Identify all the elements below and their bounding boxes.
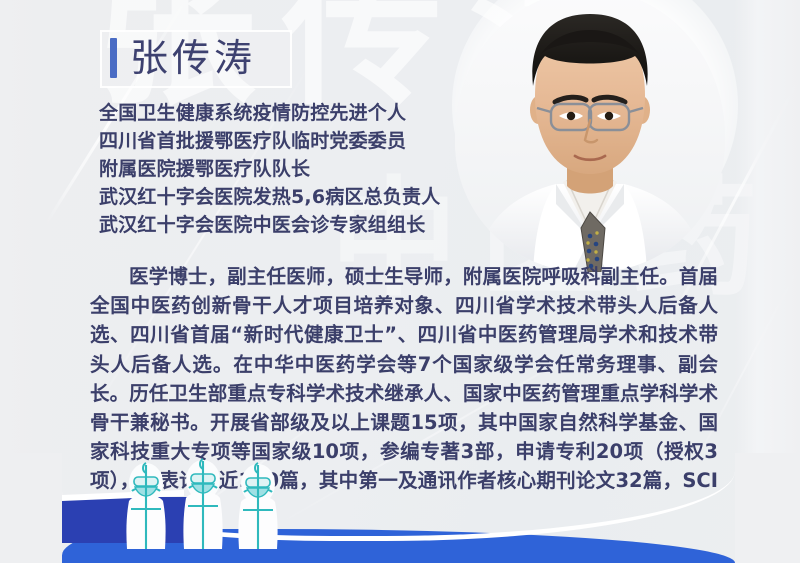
medical-staff-ppe-icon xyxy=(118,457,174,549)
medical-staff-ppe-icon xyxy=(175,455,231,549)
credentials-list: 全国卫生健康系统疫情防控先进个人 四川省首批援鄂医疗队临时党委委员 附属医院援鄂… xyxy=(99,99,479,239)
list-item: 武汉红十字会医院发热5,6病区总负责人 xyxy=(99,183,479,211)
profile-page: 张传涛 中医药 xyxy=(0,0,800,563)
list-item: 全国卫生健康系统疫情防控先进个人 xyxy=(99,99,479,127)
right-page-margin xyxy=(735,453,800,563)
doctor-name: 张传涛 xyxy=(130,36,256,80)
list-item: 四川省首批援鄂医疗队临时党委委员 xyxy=(99,127,479,155)
accent-bar-icon xyxy=(110,38,117,78)
page-title: 张传涛 xyxy=(110,36,256,80)
list-item: 附属医院援鄂医疗队队长 xyxy=(99,155,479,183)
portrait-photo xyxy=(455,0,725,272)
avatar xyxy=(455,0,725,272)
bottom-artwork xyxy=(0,453,800,563)
medical-staff-ppe-icon xyxy=(230,459,286,549)
left-page-margin xyxy=(0,453,62,563)
list-item: 武汉红十字会医院中医会诊专家组组长 xyxy=(99,211,479,239)
